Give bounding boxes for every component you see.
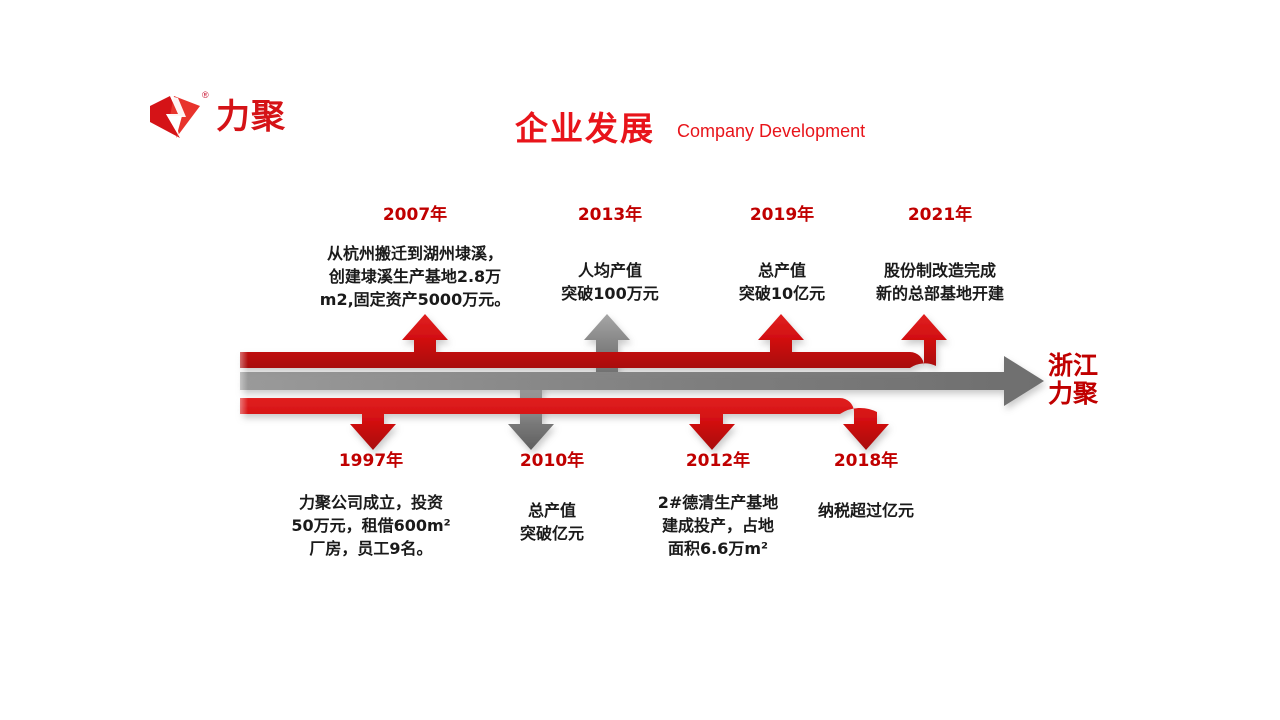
milestone-1997-line-3: 厂房，员工9名。 [262, 537, 480, 560]
left-edge-fade [228, 338, 248, 430]
milestone-2019-description: 总产值 突破10亿元 [712, 259, 852, 305]
milestone-2013-line-1: 人均产值 [540, 259, 680, 282]
milestone-1997-line-1: 力聚公司成立，投资 [262, 491, 480, 514]
milestone-2012-line-2: 建成投产，占地 [638, 514, 798, 537]
milestone-2013-description: 人均产值 突破100万元 [540, 259, 680, 305]
end-label-line-1: 浙江 [1048, 352, 1098, 380]
milestone-2012-line-1: 2#德清生产基地 [638, 491, 798, 514]
milestone-2007-line-2: 创建埭溪生产基地2.8万 [300, 265, 530, 288]
timeline-end-label: 浙江 力聚 [1048, 352, 1098, 408]
milestone-2007-year: 2007年 [300, 206, 530, 225]
branch-2010-down [508, 381, 554, 450]
milestone-2012-line-3: 面积6.6万m² [638, 537, 798, 560]
milestone-2019-line-2: 突破10亿元 [712, 282, 852, 305]
end-label-line-2: 力聚 [1048, 380, 1098, 408]
milestone-2010-line-1: 总产值 [484, 499, 620, 522]
slide-canvas: ® 力聚 企业发展 Company Development [0, 0, 1280, 720]
milestone-2019-line-1: 总产值 [712, 259, 852, 282]
milestone-2013: 2013年 人均产值 突破100万元 [540, 206, 680, 305]
red-top-bar [240, 314, 947, 368]
milestone-2007-line-3: m2,固定资产5000万元。 [300, 288, 530, 311]
milestone-1997-line-2: 50万元，租借600m² [262, 514, 480, 537]
milestone-2010: 2010年 总产值 突破亿元 [484, 452, 620, 545]
red-bottom-bar [240, 398, 889, 450]
milestone-1997: 1997年 力聚公司成立，投资 50万元，租借600m² 厂房，员工9名。 [262, 452, 480, 560]
milestone-2021-line-1: 股份制改造完成 [852, 259, 1028, 282]
milestone-2021-line-2: 新的总部基地开建 [852, 282, 1028, 305]
milestone-2010-description: 总产值 突破亿元 [484, 499, 620, 545]
milestone-2010-year: 2010年 [484, 452, 620, 471]
milestone-2019-year: 2019年 [712, 206, 852, 225]
milestone-2018-line-1: 纳税超过亿元 [790, 499, 942, 522]
milestone-2013-year: 2013年 [540, 206, 680, 225]
milestone-2019: 2019年 总产值 突破10亿元 [712, 206, 852, 305]
milestone-2007: 2007年 从杭州搬迁到湖州埭溪， 创建埭溪生产基地2.8万 m2,固定资产50… [300, 206, 530, 311]
milestone-2012-description: 2#德清生产基地 建成投产，占地 面积6.6万m² [638, 491, 798, 561]
milestone-2010-line-2: 突破亿元 [484, 522, 620, 545]
milestone-2012: 2012年 2#德清生产基地 建成投产，占地 面积6.6万m² [638, 452, 798, 560]
milestone-2007-line-1: 从杭州搬迁到湖州埭溪， [300, 242, 530, 265]
milestone-2012-year: 2012年 [638, 452, 798, 471]
red-bottom-bar-shaft [240, 398, 889, 450]
milestone-2018: 2018年 纳税超过亿元 [790, 452, 942, 522]
milestone-1997-description: 力聚公司成立，投资 50万元，租借600m² 厂房，员工9名。 [262, 491, 480, 561]
branch-2013-up [584, 314, 630, 381]
milestone-2018-year: 2018年 [790, 452, 942, 471]
milestone-2007-description: 从杭州搬迁到湖州埭溪， 创建埭溪生产基地2.8万 m2,固定资产5000万元。 [300, 242, 530, 312]
red-top-bar-shaft [240, 314, 947, 368]
milestone-2021: 2021年 股份制改造完成 新的总部基地开建 [852, 206, 1028, 305]
milestone-2018-description: 纳税超过亿元 [790, 499, 942, 522]
milestone-2013-line-2: 突破100万元 [540, 282, 680, 305]
milestone-2021-description: 股份制改造完成 新的总部基地开建 [852, 259, 1028, 305]
milestone-1997-year: 1997年 [262, 452, 480, 471]
milestone-2021-year: 2021年 [852, 206, 1028, 225]
